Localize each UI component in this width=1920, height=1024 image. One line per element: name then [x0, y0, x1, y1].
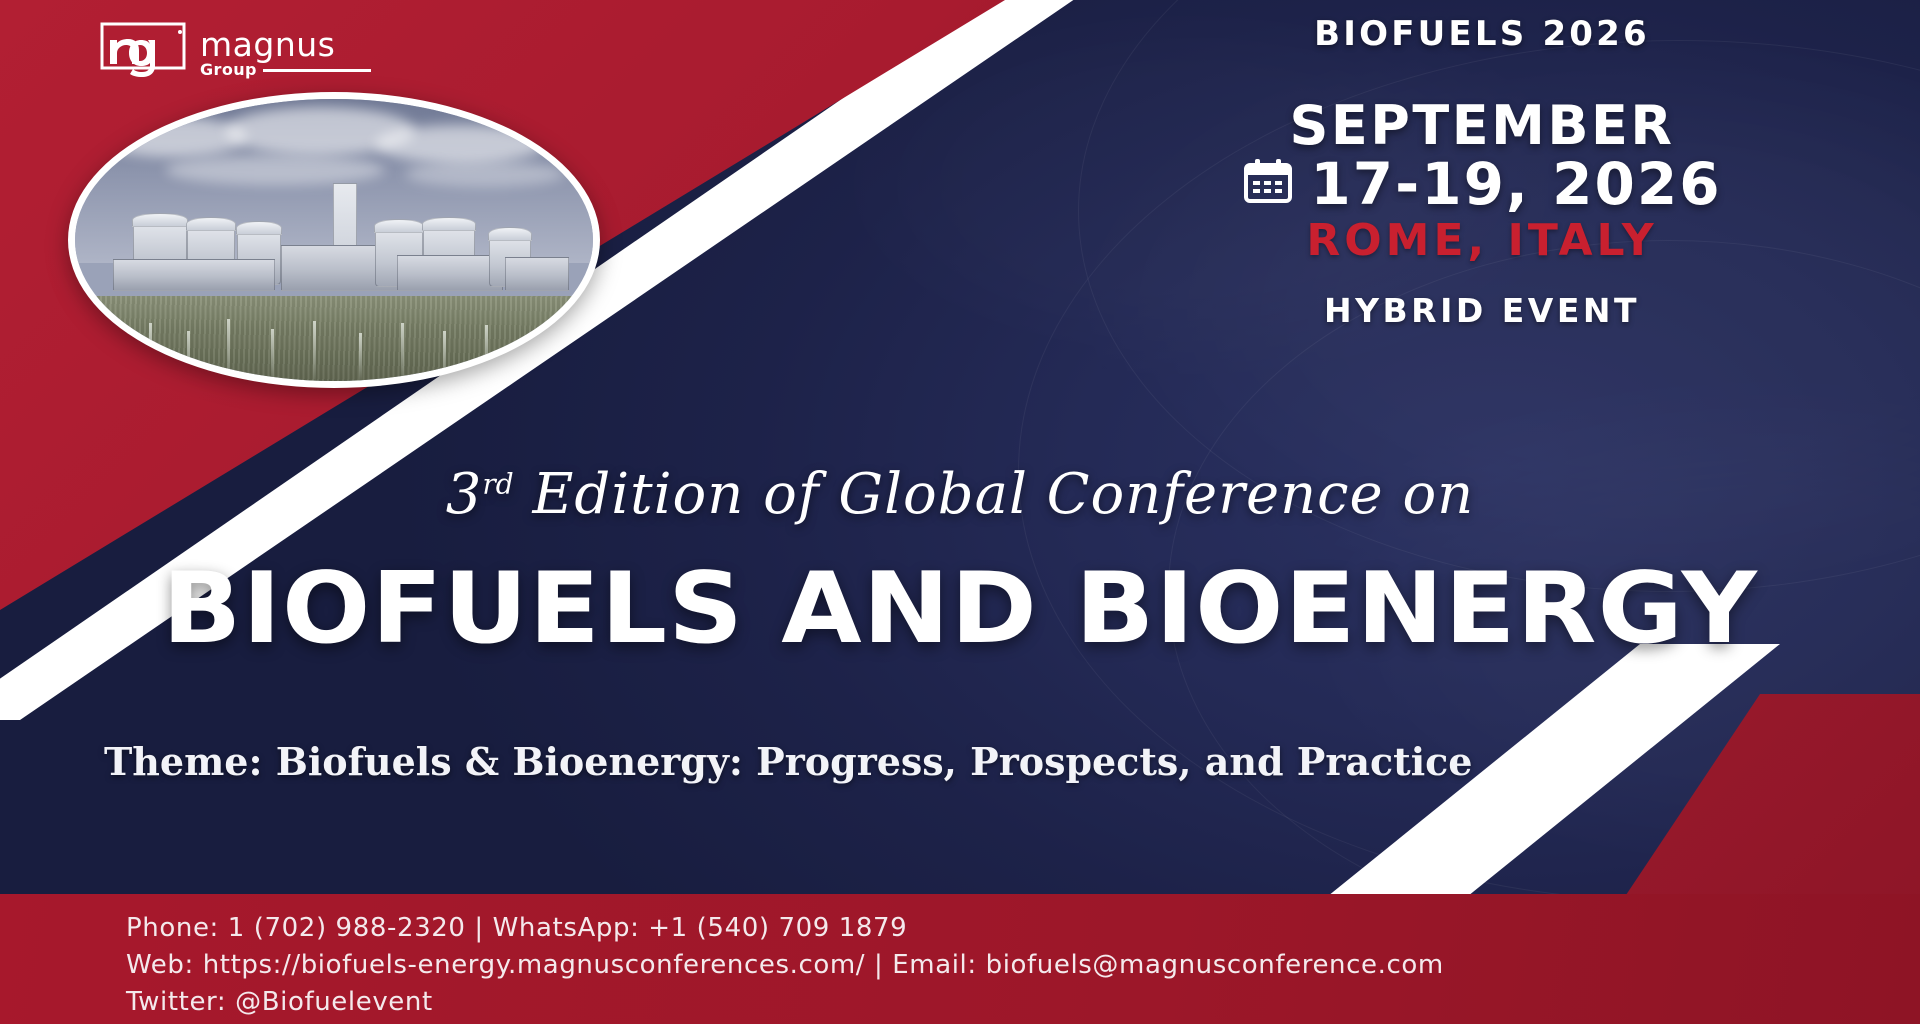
ng-monogram-icon [100, 22, 186, 78]
contact-twitter-line: Twitter: @Biofuelevent [126, 984, 1920, 1021]
event-city: ROME, ITALY [1122, 219, 1842, 263]
logo-rule [263, 69, 371, 72]
logo-wordmark: magnus [200, 28, 371, 61]
event-tag: BIOFUELS 2026 [1122, 14, 1842, 54]
conference-theme: Theme: Biofuels & Bioenergy: Progress, P… [104, 738, 1534, 787]
event-info-block: BIOFUELS 2026 SEPTEMBER 17-19, 2026 [1122, 14, 1842, 330]
edition-line: 3rd Edition of Global Conference on [0, 462, 1920, 527]
contact-web-email-line: Web: https://biofuels-energy.magnusconfe… [126, 947, 1920, 984]
edition-rest: Edition of Global Conference on [514, 462, 1475, 527]
contact-phone-line: Phone: 1 (702) 988-2320 | WhatsApp: +1 (… [126, 910, 1920, 947]
edition-number: 3 [446, 462, 483, 527]
conference-banner: magnus Group [0, 0, 1920, 1024]
event-date-row: 17-19, 2026 [1122, 155, 1842, 213]
event-days: 17-19, 2026 [1310, 155, 1721, 213]
event-month: SEPTEMBER [1122, 98, 1842, 153]
magnus-group-logo[interactable]: magnus Group [100, 22, 371, 78]
contact-footer: Phone: 1 (702) 988-2320 | WhatsApp: +1 (… [0, 894, 1920, 1024]
calendar-icon [1242, 156, 1294, 213]
logo-subtitle: Group [200, 62, 257, 78]
event-mode: HYBRID EVENT [1122, 291, 1842, 330]
page-title: BIOFUELS AND BIOENERGY [0, 552, 1920, 666]
edition-ordinal-suffix: rd [482, 467, 513, 500]
biorefinery-photo [68, 92, 600, 388]
